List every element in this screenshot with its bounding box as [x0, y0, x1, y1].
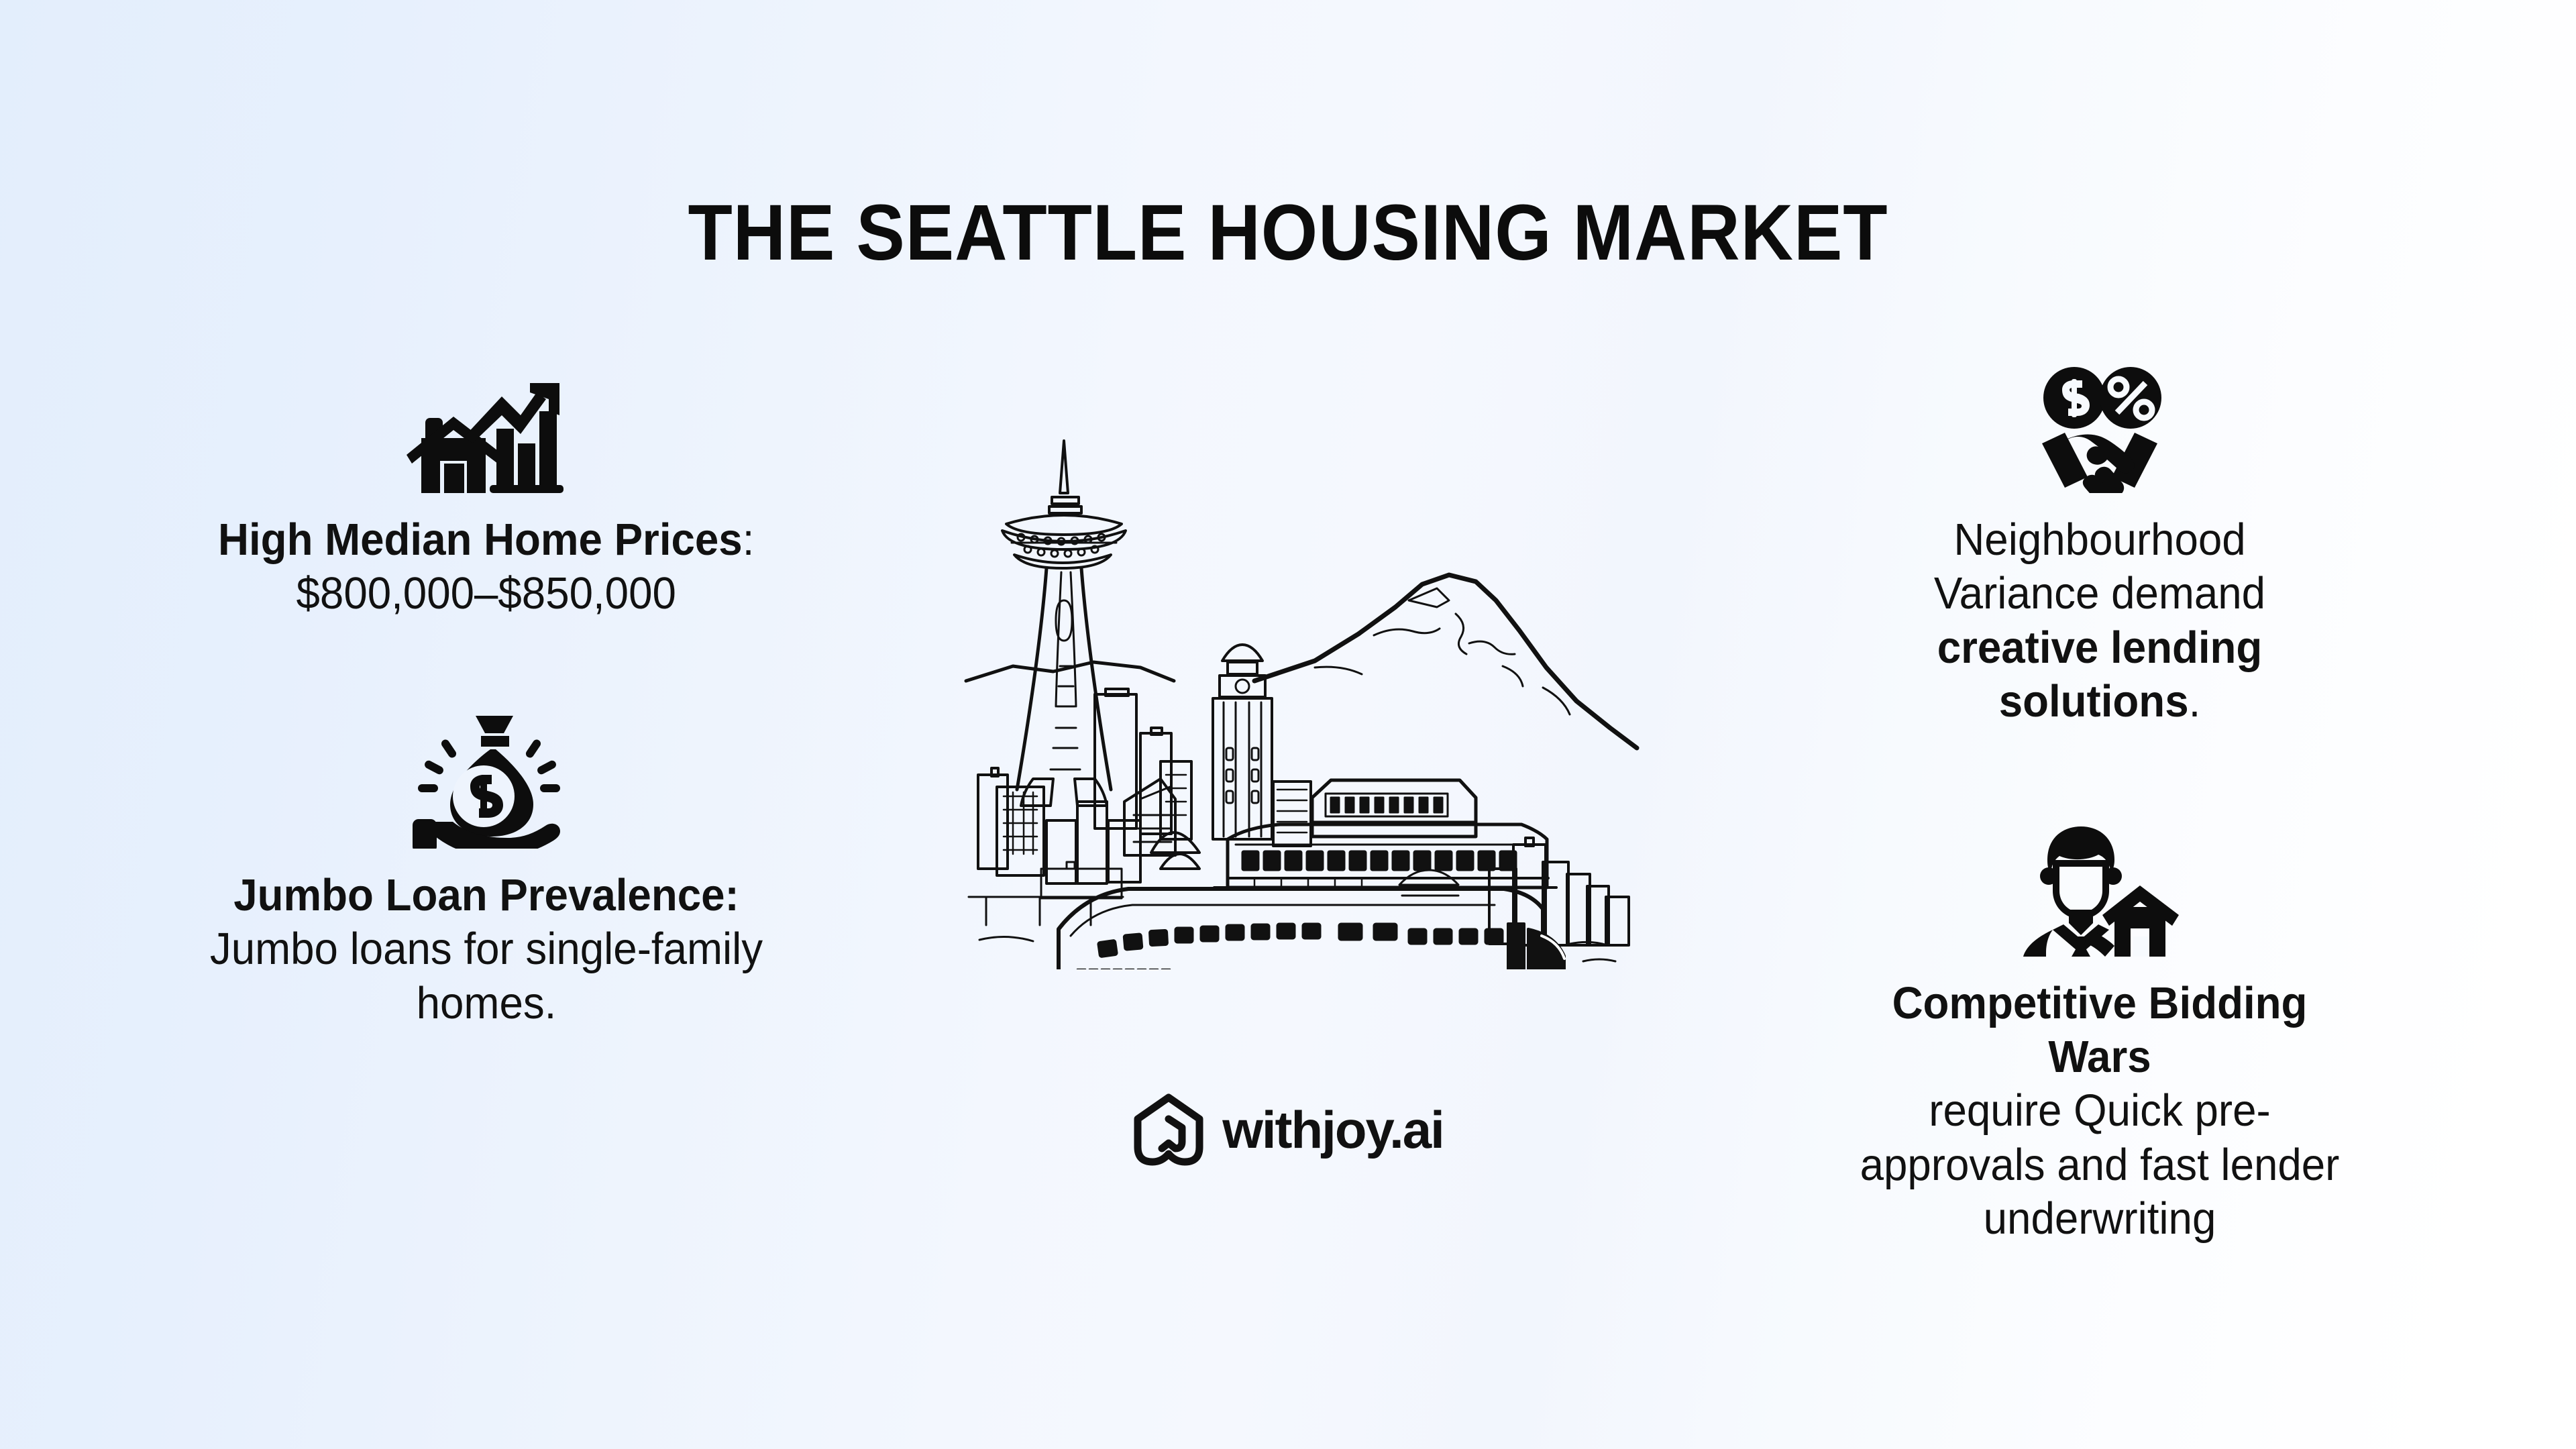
withjoy-logo[interactable]: withjoy.ai [0, 1092, 2576, 1167]
left-column: High Median Home Prices: $800,000–$850,0… [151, 349, 822, 1030]
page-title: THE SEATTLE HOUSING MARKET [103, 193, 2473, 272]
stat-body-jumbo-loan: Jumbo loans for single-family homes. [210, 924, 763, 1028]
house-growth-chart-icon [402, 349, 570, 493]
stat-text-jumbo-loan: Jumbo Loan Prevalence: Jumbo loans for s… [206, 869, 767, 1030]
stat-text-neighbourhood-variance: Neighbourhood Variance demand creative l… [1880, 513, 2320, 729]
stat-text-median-prices: High Median Home Prices: $800,000–$850,0… [218, 513, 754, 621]
real-estate-agent-house-icon [2016, 812, 2184, 957]
stat-heading-bidding-wars: Competitive Bidding Wars [1892, 978, 2308, 1082]
hand-money-bag-icon [402, 704, 570, 849]
stat-trail-period: . [2189, 676, 2201, 727]
stat-heading-suffix: : [743, 515, 755, 565]
stat-block-bidding-wars: Competitive Bidding Wars require Quick p… [1764, 812, 2435, 1246]
withjoy-house-icon [1132, 1092, 1205, 1167]
handshake-dollar-percent-icon [2016, 349, 2184, 493]
infographic-canvas: THE SEATTLE HOUSING MARKET [0, 0, 2576, 1449]
stat-block-neighbourhood-variance: Neighbourhood Variance demand creative l… [1764, 349, 2435, 729]
stat-heading-jumbo-loan: Jumbo Loan Prevalence: [233, 870, 739, 920]
seattle-skyline-ferry-illustration [939, 399, 1650, 969]
stat-heading-median-prices: High Median Home Prices [218, 515, 743, 565]
stat-block-jumbo-loan: Jumbo Loan Prevalence: Jumbo loans for s… [151, 704, 822, 1030]
stat-block-median-prices: High Median Home Prices: $800,000–$850,0… [151, 349, 822, 621]
stat-body-median-prices: $800,000–$850,000 [297, 568, 676, 619]
stat-lead-neighbourhood-variance: Neighbourhood Variance demand [1934, 515, 2265, 619]
withjoy-logo-text: withjoy.ai [1222, 1104, 1444, 1156]
stat-emphasis-creative-lending: creative lending solutions [1937, 623, 2263, 727]
